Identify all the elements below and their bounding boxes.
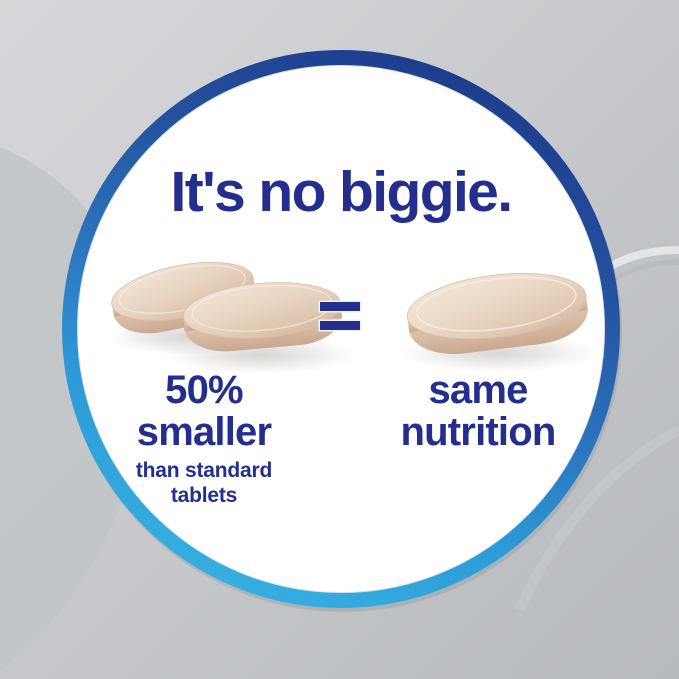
- tablet-comparison-visual: [56, 259, 626, 374]
- caption-left: 50% smaller than standard tablets: [79, 369, 329, 509]
- caption-left-line1: 50%: [79, 369, 329, 411]
- caption-right-line1: same: [353, 369, 603, 411]
- caption-right-main: same nutrition: [353, 369, 603, 453]
- caption-left-main: 50% smaller: [79, 369, 329, 453]
- caption-left-subline1: than standard: [79, 459, 329, 484]
- caption-left-sub: than standard tablets: [79, 459, 329, 509]
- equals-icon: [320, 296, 364, 336]
- caption-right-line2: nutrition: [353, 411, 603, 453]
- page-title: It's no biggie.: [56, 164, 626, 221]
- equals-bar-bottom: [320, 321, 360, 330]
- caption-row: 50% smaller than standard tablets same n…: [56, 369, 626, 509]
- caption-left-line2: smaller: [79, 411, 329, 453]
- caption-right: same nutrition: [353, 369, 603, 509]
- equals-bar-top: [320, 302, 360, 311]
- infographic-content: It's no biggie.: [56, 44, 626, 614]
- infographic-canvas: It's no biggie.: [0, 0, 679, 679]
- caption-left-subline2: tablets: [79, 484, 329, 509]
